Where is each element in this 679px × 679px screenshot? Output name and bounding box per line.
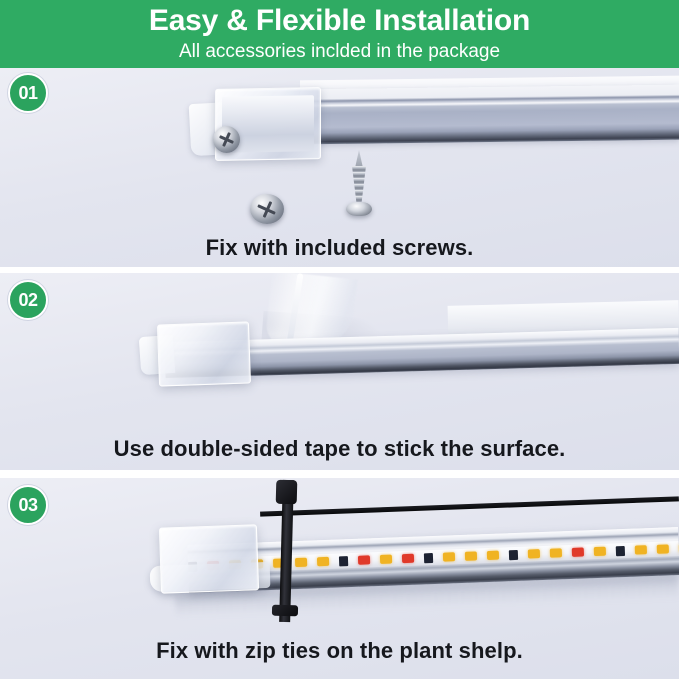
- led-diode-red: [358, 555, 370, 564]
- led-diode-amber: [550, 548, 562, 557]
- step-badge-2-label: 02: [18, 291, 37, 309]
- led-diode-chip: [339, 556, 348, 566]
- header-title: Easy & Flexible Installation: [149, 3, 530, 39]
- led-diode-amber: [380, 555, 392, 564]
- screw-head-front: [250, 194, 284, 224]
- screw-cap: [346, 202, 372, 216]
- phillips-cross-icon: [250, 194, 284, 224]
- step-badge-3-label: 03: [18, 496, 37, 514]
- led-diode-chip: [509, 549, 518, 559]
- step-badge-3: 03: [8, 485, 48, 525]
- led-diode-chip: [424, 553, 433, 563]
- screw-standing: [346, 150, 372, 224]
- clear-end-cap: [159, 524, 259, 593]
- zip-tie-tail: [272, 605, 298, 617]
- phillips-cross-icon: [213, 126, 240, 153]
- step-badge-1: 01: [8, 73, 48, 113]
- step-panel-1: 01 Fix with included screws.: [0, 68, 679, 267]
- shelf-rod: [260, 496, 679, 516]
- step-panel-2: 02 Use double-sided tape to stick the su…: [0, 273, 679, 470]
- led-diode-chip: [616, 545, 625, 555]
- led-diode-amber: [657, 544, 669, 553]
- step-panel-3: 03 Fix with zip ties on the plant shelp.: [0, 478, 679, 679]
- panel-divider-2: [0, 470, 679, 476]
- step-2-caption: Use double-sided tape to stick the surfa…: [0, 436, 679, 462]
- led-diode-red: [402, 554, 414, 563]
- screw-head-left: [213, 126, 240, 153]
- header-subtitle: All accessories inclded in the package: [179, 39, 500, 65]
- header-banner: Easy & Flexible Installation All accesso…: [0, 0, 679, 68]
- led-diode-amber: [443, 552, 455, 561]
- installation-infographic: Easy & Flexible Installation All accesso…: [0, 0, 679, 679]
- step-badge-1-label: 01: [18, 84, 37, 102]
- screw-tip: [355, 150, 363, 168]
- led-diode-amber: [528, 549, 540, 558]
- step-3-caption: Fix with zip ties on the plant shelp.: [0, 638, 679, 664]
- led-diode-amber: [317, 557, 329, 566]
- zip-tie-head: [276, 480, 298, 505]
- step-1-caption: Fix with included screws.: [0, 235, 679, 261]
- clear-end-cap: [157, 321, 251, 386]
- led-diode-amber: [487, 551, 499, 560]
- led-diode-amber: [295, 558, 307, 567]
- led-diode-amber: [635, 545, 647, 554]
- led-diode-amber: [465, 551, 477, 560]
- led-strip-body: [300, 85, 679, 145]
- led-diode-amber: [594, 547, 606, 556]
- step-badge-2: 02: [8, 280, 48, 320]
- led-diode-red: [572, 547, 584, 556]
